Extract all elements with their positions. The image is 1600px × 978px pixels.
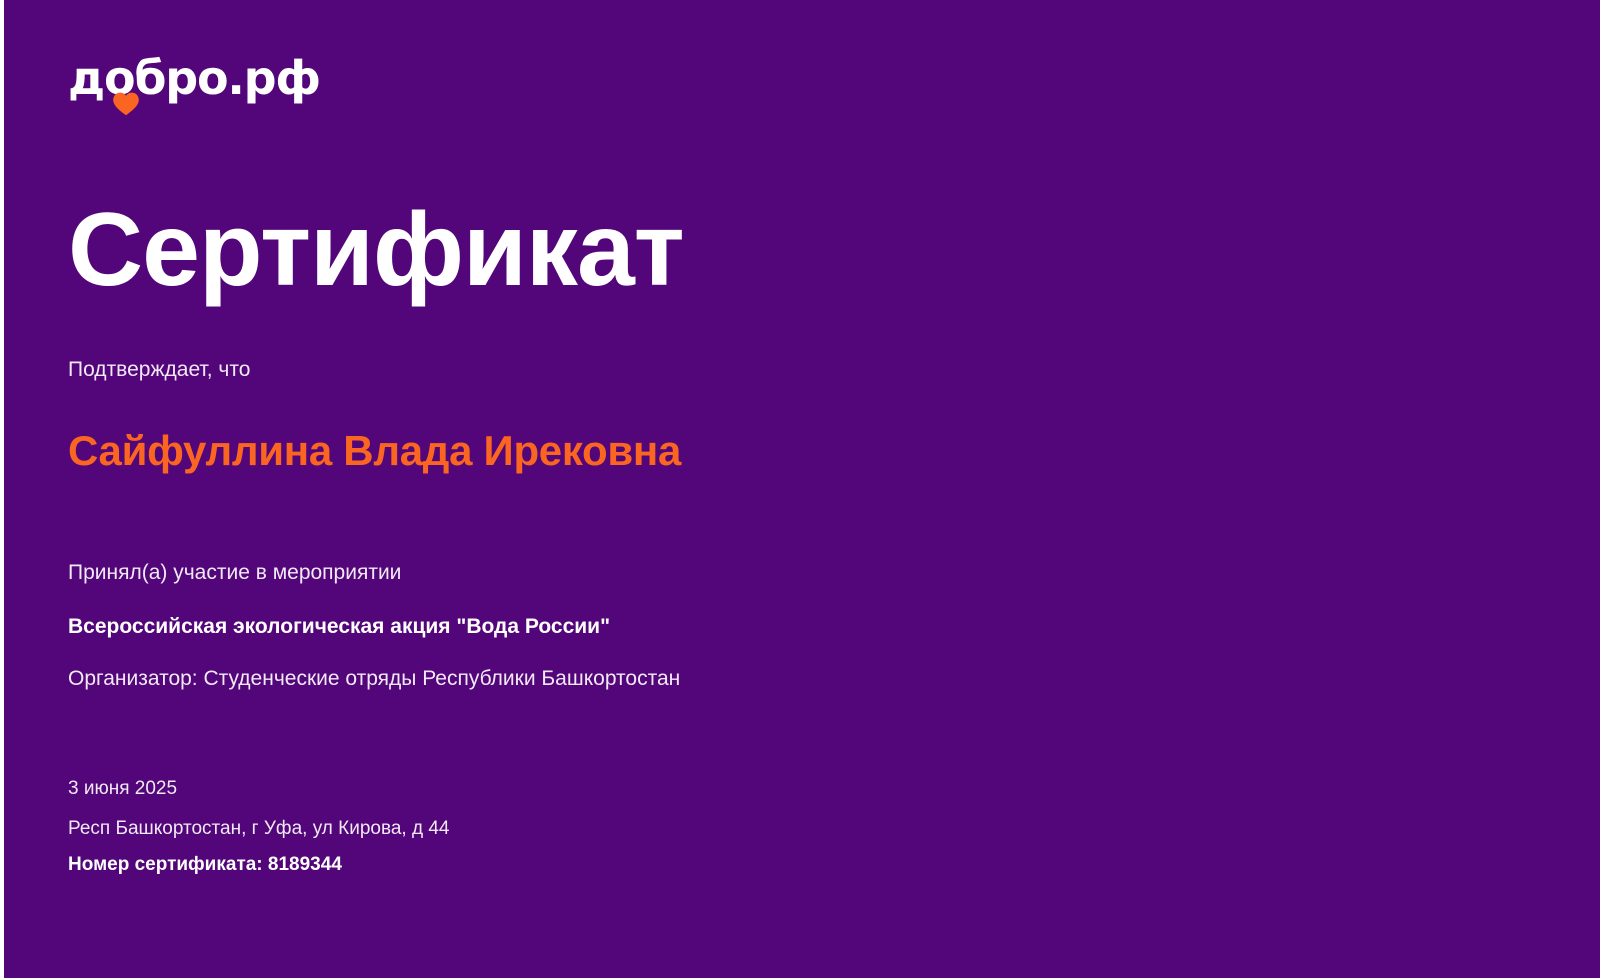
page-title: Сертификат	[68, 196, 684, 305]
issue-address: Респ Башкортостан, г Уфа, ул Кирова, д 4…	[68, 819, 968, 840]
organizer-text: Организатор: Студенческие отряды Республ…	[68, 664, 680, 693]
event-name: Всероссийская экологическая акция "Вода …	[68, 612, 610, 641]
heart-icon	[112, 92, 140, 116]
logo-wordmark: добро.рф	[68, 55, 320, 101]
participation-text: Принял(а) участие в мероприятии	[68, 558, 401, 587]
lead-text: Подтверждает, что	[68, 355, 250, 384]
dobro-rf-logo: добро.рф	[68, 55, 320, 117]
certificate-page: добро.рф Сертификат Подтверждает, что Са…	[0, 0, 1600, 978]
certificate-content: добро.рф Сертификат Подтверждает, что Са…	[68, 0, 1568, 978]
left-edge-strip	[0, 0, 4, 978]
issue-date: 3 июня 2025	[68, 779, 968, 800]
certificate-footer: 3 июня 2025 Респ Башкортостан, г Уфа, ул…	[68, 779, 968, 876]
recipient-name: Сайфуллина Влада Ирековна	[68, 418, 768, 483]
certificate-number: Номер сертификата: 8189344	[68, 855, 968, 876]
